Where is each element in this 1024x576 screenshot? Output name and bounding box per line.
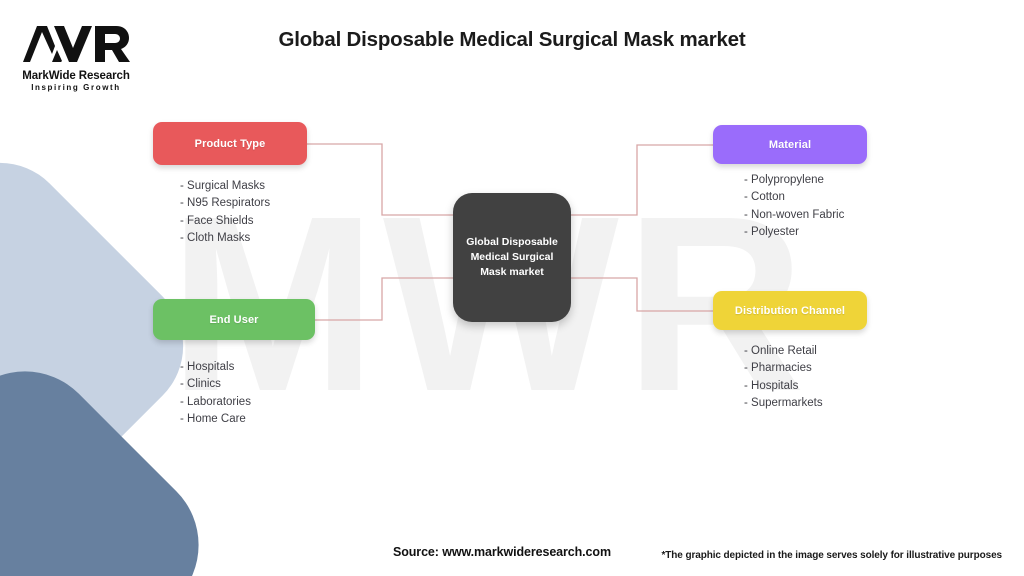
- list-item: - Pharmacies: [744, 360, 823, 377]
- node-distribution-channel-label: Distribution Channel: [735, 305, 845, 317]
- infographic-canvas: MWR MarkWide Research Inspiring Growth G…: [0, 0, 1024, 576]
- connector-distribution-channel: [571, 278, 713, 311]
- list-distribution-channel: - Online Retail - Pharmacies - Hospitals…: [744, 343, 823, 413]
- list-item: - N95 Respirators: [180, 195, 270, 212]
- list-item: - Home Care: [180, 411, 251, 428]
- list-material: - Polypropylene - Cotton - Non-woven Fab…: [744, 172, 844, 242]
- list-item: - Polyester: [744, 224, 844, 241]
- node-distribution-channel[interactable]: Distribution Channel: [713, 291, 867, 330]
- node-material[interactable]: Material: [713, 125, 867, 164]
- node-product-type-label: Product Type: [195, 138, 266, 150]
- list-item: - Hospitals: [180, 359, 251, 376]
- list-item: - Face Shields: [180, 213, 270, 230]
- connector-material: [571, 145, 713, 215]
- list-item: - Surgical Masks: [180, 178, 270, 195]
- node-end-user-label: End User: [209, 314, 258, 326]
- list-end-user: - Hospitals - Clinics - Laboratories - H…: [180, 359, 251, 429]
- node-end-user[interactable]: End User: [153, 299, 315, 340]
- list-product-type: - Surgical Masks - N95 Respirators - Fac…: [180, 178, 270, 248]
- connector-product-type: [307, 144, 453, 215]
- list-item: - Polypropylene: [744, 172, 844, 189]
- connector-end-user: [315, 278, 453, 320]
- list-item: - Cloth Masks: [180, 230, 270, 247]
- list-item: - Clinics: [180, 376, 251, 393]
- node-material-label: Material: [769, 139, 811, 151]
- source-label: Source: www.markwideresearch.com: [393, 545, 611, 559]
- list-item: - Laboratories: [180, 394, 251, 411]
- node-product-type[interactable]: Product Type: [153, 122, 307, 165]
- center-node[interactable]: Global Disposable Medical Surgical Mask …: [453, 193, 571, 322]
- list-item: - Online Retail: [744, 343, 823, 360]
- list-item: - Supermarkets: [744, 395, 823, 412]
- list-item: - Cotton: [744, 189, 844, 206]
- list-item: - Hospitals: [744, 378, 823, 395]
- disclaimer-text: *The graphic depicted in the image serve…: [662, 550, 1003, 561]
- list-item: - Non-woven Fabric: [744, 207, 844, 224]
- center-node-label: Global Disposable Medical Surgical Mask …: [453, 235, 571, 280]
